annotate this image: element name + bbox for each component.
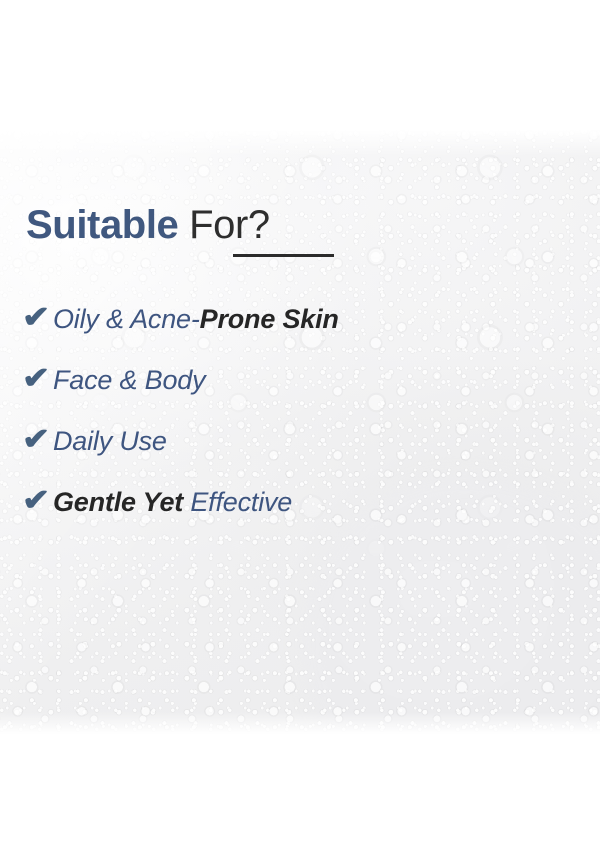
list-item-label: Face & Body xyxy=(53,364,205,396)
list-item: ✔ Face & Body xyxy=(22,349,582,410)
list-item-lead: Face & Body xyxy=(53,365,205,395)
suitability-list: ✔ Oily & Acne-Prone Skin ✔ Face & Body ✔… xyxy=(22,288,582,532)
list-item-label: Gentle Yet Effective xyxy=(53,486,292,518)
check-icon: ✔ xyxy=(22,364,57,394)
check-icon: ✔ xyxy=(22,425,57,455)
list-item: ✔ Daily Use xyxy=(22,410,582,471)
list-item: ✔ Oily & Acne-Prone Skin xyxy=(22,288,582,349)
list-item-lead: Oily & Acne- xyxy=(53,304,200,334)
list-item-emphasis: Gentle Yet xyxy=(53,487,183,517)
list-item-label: Daily Use xyxy=(53,425,167,457)
page-title: Suitable For? xyxy=(26,200,270,250)
list-item-emphasis: Prone Skin xyxy=(200,304,339,334)
check-icon: ✔ xyxy=(22,486,57,516)
list-item-label: Oily & Acne-Prone Skin xyxy=(53,303,339,335)
list-item-lead: Daily Use xyxy=(53,426,167,456)
title-underline-rule xyxy=(233,254,334,257)
text-overlay: Suitable For? ✔ Oily & Acne-Prone Skin ✔… xyxy=(0,0,600,866)
check-icon: ✔ xyxy=(22,303,57,333)
page-title-light: For? xyxy=(189,203,270,247)
list-item-lead: Effective xyxy=(183,487,292,517)
page-title-strong: Suitable xyxy=(26,203,178,247)
list-item: ✔ Gentle Yet Effective xyxy=(22,471,582,532)
product-infographic-canvas: Suitable For? ✔ Oily & Acne-Prone Skin ✔… xyxy=(0,0,600,866)
